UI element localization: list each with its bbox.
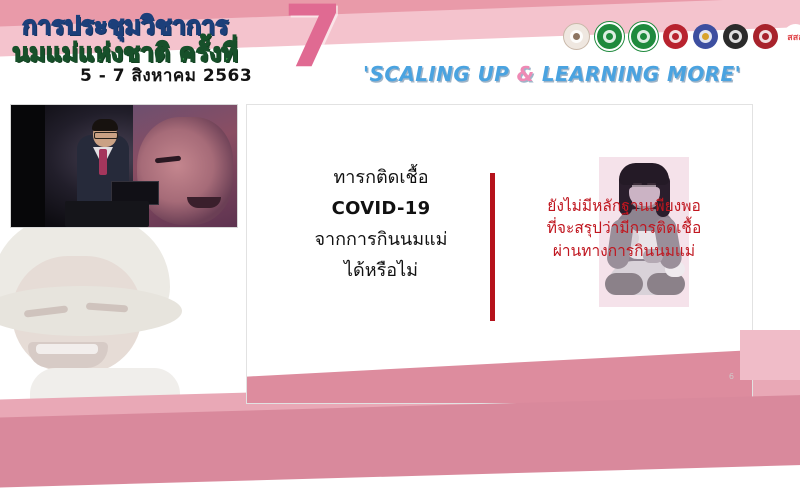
nursing-council-logo [753, 24, 778, 49]
tagline-text-before: 'SCALING UP [363, 62, 517, 86]
vertical-red-divider [490, 173, 495, 321]
smiling-child-in-hat-watermark [0, 216, 240, 416]
conference-header-banner: 7 การประชุมวิชาการ นมแม่แห่งชาติ ครั้งที… [0, 0, 800, 100]
projected-baby-face [137, 117, 233, 225]
ministry-public-health-logo [595, 22, 624, 51]
question-line-4: ได้หรือไม่ [281, 256, 481, 287]
illustration-right-eye [647, 183, 656, 185]
speaker-glasses [94, 132, 118, 139]
answer-line-3: ผ่านทางการกินนมแม่ [505, 240, 743, 262]
presentation-slide[interactable]: ทารกติดเชื้อ COVID-19 จากการกินนมแม่ ได้… [246, 104, 753, 404]
thai-breastfeeding-centre-logo [693, 24, 718, 49]
question-line-3: จากการกินนมแม่ [281, 225, 481, 256]
tagline-text-after: LEARNING MORE' [535, 62, 742, 86]
tagline-ampersand: & [517, 62, 535, 86]
watermark-teeth [36, 344, 98, 354]
header-band-bottom-white [0, 92, 800, 100]
royal-emblem-logo [563, 23, 590, 50]
answer-line-1: ยังไม่มีหลักฐานเพียงพอ [505, 195, 743, 217]
speaker-hair [92, 119, 118, 131]
lectern-podium [65, 201, 149, 227]
slide-number: 6 [729, 372, 734, 381]
slide-answer-text: ยังไม่มีหลักฐานเพียงพอ ที่จะสรุปว่ามีการ… [505, 195, 743, 262]
department-health-logo [629, 22, 658, 51]
illustration-left-leg [605, 273, 643, 295]
question-line-2: COVID-19 [281, 194, 481, 225]
right-edge-pink-band [740, 330, 800, 380]
illustration-left-eye [633, 183, 642, 185]
sponsor-logo-row: สสส Thai Health [563, 22, 800, 51]
royal-college-pediatricians-logo [663, 24, 688, 49]
illustration-hair-front [619, 163, 669, 185]
presenter-video-feed[interactable] [10, 104, 238, 228]
slide-question-text: ทารกติดเชื้อ COVID-19 จากการกินนมแม่ ได้… [281, 163, 481, 287]
conference-tagline: 'SCALING UP & LEARNING MORE' [363, 62, 741, 86]
sss-logo-text: สสส [787, 30, 800, 44]
slide-footer-band-dark [246, 348, 753, 404]
university-seal-logo [723, 24, 748, 49]
answer-line-2: ที่จะสรุปว่ามีการติดเชื้อ [505, 217, 743, 239]
speaker-necktie [99, 149, 107, 175]
question-line-1: ทารกติดเชื้อ [281, 163, 481, 194]
video-wall-panel [11, 105, 45, 227]
conference-date: 5 - 7 สิงหาคม 2563 [80, 62, 252, 89]
edition-number: 7 [283, 0, 341, 80]
thai-health-sss-logo: สสส Thai Health [783, 24, 800, 49]
